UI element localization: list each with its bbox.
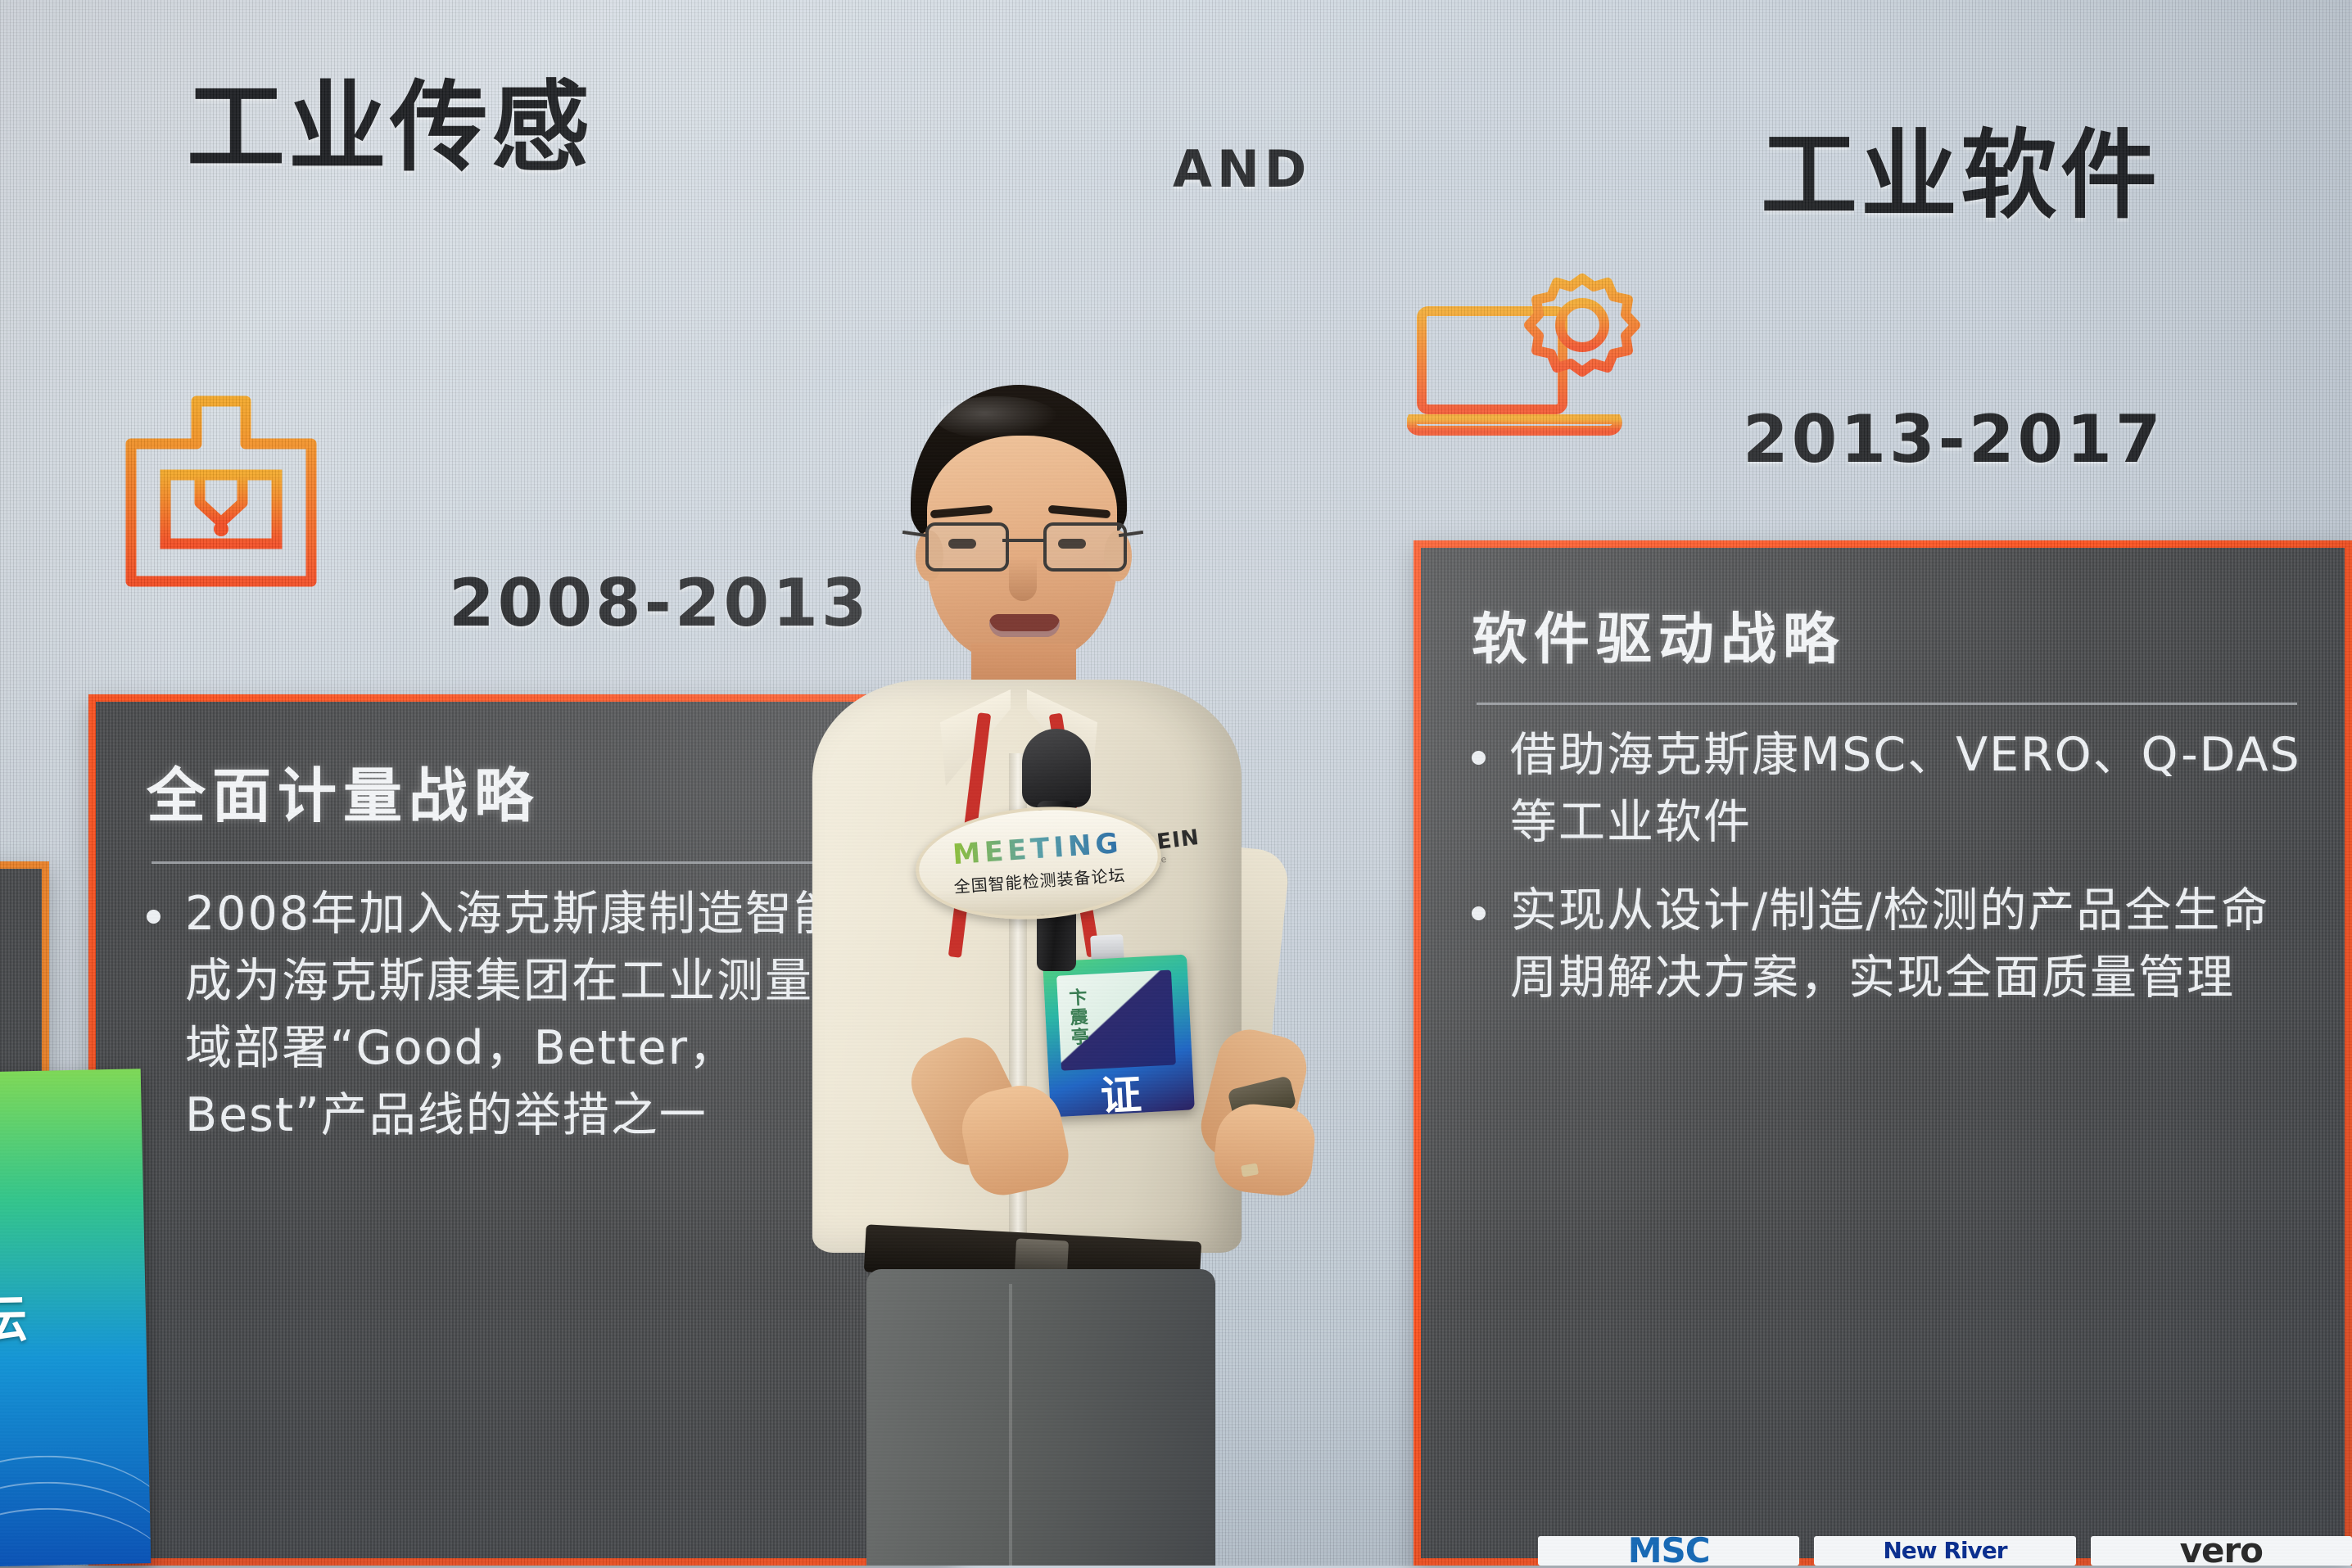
eyeglass-left-temple [902, 531, 927, 537]
list-item: 实现从设计/制造/检测的产品全生命周期解决方案，实现全面质量管理 [1472, 877, 2302, 1011]
speaker-person: SEREIN Art of Image 卞震亭 证 MEETING 全国智能检测… [721, 385, 1327, 1566]
eyeglass-left-lens [925, 522, 1009, 572]
vero-logo-text: vero [2180, 1536, 2263, 1566]
speaker-nose [1009, 557, 1037, 601]
speaker-trousers [866, 1269, 1215, 1566]
partner-logo-strip: MSC New River vero [1538, 1536, 2352, 1566]
bullet-dot-icon [147, 910, 161, 924]
right-date-range: 2013-2017 [1743, 401, 2164, 477]
laptop-gear-software-icon [1407, 267, 1653, 446]
eyeglass-right-lens [1043, 522, 1127, 572]
right-bullet-2-text: 实现从设计/制造/检测的产品全生命周期解决方案，实现全面质量管理 [1510, 877, 2302, 1011]
vero-software-logo: vero [2091, 1536, 2352, 1566]
slide-headline-left: 工业传感 [187, 47, 593, 190]
right-panel-divider [1477, 703, 2297, 705]
msc-logo-text: MSC [1628, 1536, 1710, 1566]
trouser-crease [1009, 1284, 1012, 1566]
bullet-dot-icon [1472, 751, 1486, 765]
right-panel-heading: 软件驱动战略 [1472, 594, 2302, 675]
new-river-kinematics-logo: New River [1814, 1536, 2075, 1566]
speaker-right-hand [1211, 1100, 1318, 1199]
right-bullet-1-text: 借助海克斯康MSC、VERO、Q-DAS等工业软件 [1510, 721, 2302, 856]
mscsoftware-logo: MSC [1538, 1536, 1799, 1566]
speaker-mouth [989, 614, 1060, 637]
right-panel-bullet-list: 借助海克斯康MSC、VERO、Q-DAS等工业软件 实现从设计/制造/检测的产品… [1472, 721, 2302, 1011]
right-content-panel: 软件驱动战略 借助海克斯康MSC、VERO、Q-DAS等工业软件 实现从设计/制… [1413, 540, 2352, 1566]
slide-headline-right: 工业软件 [1761, 97, 2160, 237]
handheld-microphone: MEETING 全国智能检测装备论坛 [1015, 729, 1094, 974]
new-river-logo-text: New River [1883, 1539, 2006, 1562]
eyeglass-bridge [1002, 539, 1043, 542]
cmm-measuring-machine-icon [115, 390, 328, 598]
bullet-dot-icon [1472, 906, 1486, 920]
microphone-head [1022, 729, 1091, 807]
slide-headline-connector: AND [1173, 139, 1311, 199]
badge-label: 证 [1048, 1059, 1195, 1117]
badge-holder-name: 卞震亭 [1062, 987, 1092, 1048]
list-item: 借助海克斯康MSC、VERO、Q-DAS等工业软件 [1472, 721, 2302, 856]
side-banner-text: 论坛 [0, 1277, 30, 1353]
speaker-hair-highlight [935, 396, 1058, 439]
conference-badge: 卞震亭 证 [1043, 955, 1195, 1118]
